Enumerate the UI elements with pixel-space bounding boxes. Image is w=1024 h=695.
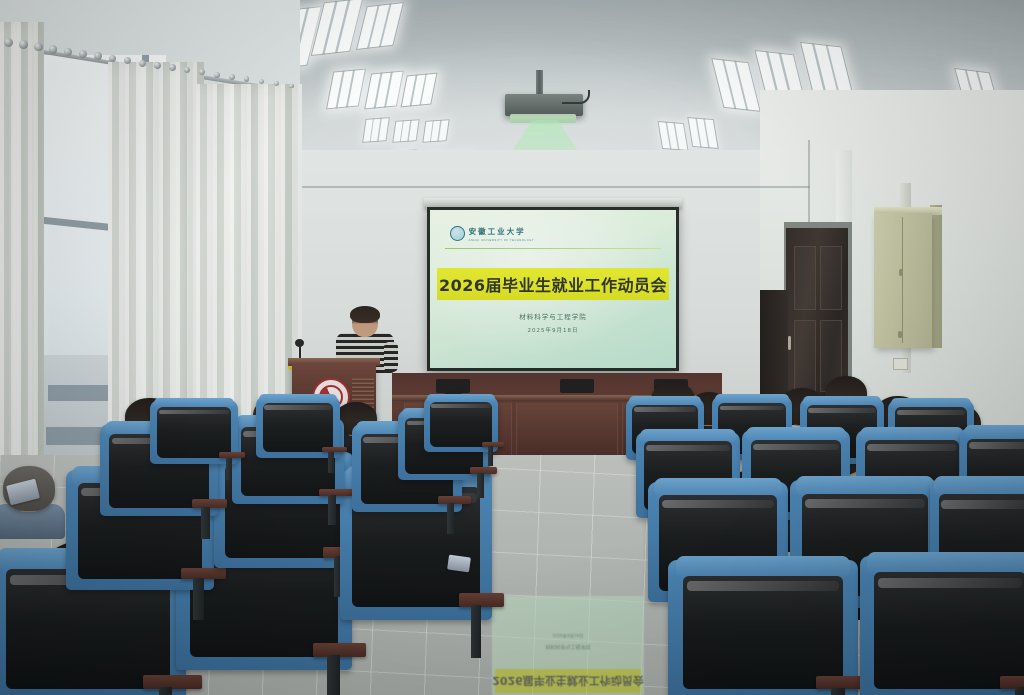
chair-cushion: [683, 576, 843, 690]
chair-highlight: [431, 404, 490, 408]
ceiling-wall-joint: [250, 186, 810, 188]
chair-highlight: [808, 408, 875, 413]
chair-leg: [471, 605, 482, 658]
reflection-date: 2025年9月18日: [492, 632, 644, 638]
cabinet-latch-icon[interactable]: [898, 331, 902, 338]
presenter-arm-right: [384, 342, 398, 372]
chair-highlight: [662, 500, 774, 508]
chair-cushion: [157, 407, 231, 458]
slide-divider: [445, 248, 662, 249]
auditorium-chair[interactable]: [256, 396, 340, 458]
curtain-ring: [169, 64, 176, 71]
chair-leg: [327, 655, 339, 695]
chair-cushion: [874, 572, 1024, 689]
curtain-ring: [154, 62, 161, 69]
curtain-fold-texture: [196, 84, 302, 434]
slide-title-banner: 2026届毕业生就业工作动员会: [437, 268, 668, 300]
slide-date: 2025年9月18日: [430, 326, 676, 334]
ceiling-light-panel: [422, 119, 449, 143]
slide-university-logo: 安徽工业大学 ANHUI UNIVERSITY OF TECHNOLOGY: [450, 226, 534, 242]
lecture-hall-photo: 安徽工业大学 ANHUI UNIVERSITY OF TECHNOLOGY 20…: [0, 0, 1024, 695]
chair-leg: [328, 452, 334, 474]
projector-mount-pole: [536, 70, 543, 96]
reflection-subtitle: 材料科学与工程学院: [492, 643, 644, 650]
projector-assembly: [500, 70, 600, 140]
presentation-slide: 安徽工业大学 ANHUI UNIVERSITY OF TECHNOLOGY 20…: [430, 210, 676, 368]
chair-cushion: [430, 402, 492, 447]
chair-highlight: [897, 410, 966, 415]
chair-cushion: [263, 403, 334, 453]
chair-highlight: [634, 407, 696, 411]
university-name-cn: 安徽工业大学: [469, 226, 534, 237]
projector-cable: [562, 90, 590, 104]
chair-highlight: [878, 578, 1022, 588]
curtain-ring: [139, 60, 146, 67]
slide-subtitle: 材料科学与工程学院: [430, 311, 676, 321]
reflection-banner: 2026届毕业生就业工作动员会: [495, 669, 641, 693]
chair-highlight: [941, 500, 1024, 509]
auditorium-chair[interactable]: [150, 400, 238, 464]
chair-armrest: [470, 467, 498, 473]
cabinet-door-seam: [902, 217, 903, 343]
wall-power-outlet: [893, 358, 908, 370]
chair-armrest: [322, 447, 347, 453]
stage-chair-2: [560, 379, 594, 393]
chair-armrest: [482, 442, 504, 447]
chair-armrest: [319, 489, 353, 497]
chair-highlight: [969, 442, 1024, 449]
curtain-ring: [94, 52, 102, 60]
door-panel-upper-right: [820, 246, 842, 310]
chair-highlight: [720, 406, 784, 410]
chair-highlight: [867, 444, 957, 451]
chair-highlight: [687, 581, 839, 591]
curtain-ring: [79, 50, 87, 58]
chair-armrest: [459, 593, 505, 607]
slide-floor-reflection: 2026届毕业生就业工作动员会 材料科学与工程学院 2025年9月18日: [492, 596, 644, 695]
curtain-panel-right: [196, 84, 302, 434]
door-panel-lower: [794, 320, 816, 392]
curtain-ring: [229, 74, 235, 80]
chair-highlight: [264, 405, 331, 409]
curtain-panel-left: [0, 22, 44, 492]
curtain-ring: [64, 48, 72, 56]
curtain-ring: [49, 45, 57, 53]
chair-leg: [477, 473, 483, 498]
door-handle-icon[interactable]: [788, 336, 791, 350]
university-name-en: ANHUI UNIVERSITY OF TECHNOLOGY: [469, 239, 534, 242]
desk-front-panel-mid: [516, 403, 618, 457]
university-seal-icon: [450, 226, 465, 241]
stage-chair-1: [436, 379, 470, 393]
electrical-cabinet[interactable]: [874, 213, 932, 348]
ceiling-light-panel: [362, 117, 390, 143]
ceiling-light-panel: [657, 121, 688, 151]
auditorium-chair[interactable]: [668, 560, 858, 695]
chair-leg: [488, 446, 493, 466]
chair-leg: [193, 578, 203, 620]
chair-leg: [831, 688, 844, 695]
curtain-ring: [289, 84, 294, 89]
curtain-ring: [214, 72, 220, 78]
chair-leg: [159, 687, 173, 695]
microphone-head-icon: [295, 339, 304, 347]
chair-highlight: [805, 499, 925, 508]
chair-armrest: [192, 499, 227, 507]
reflection-title: 2026届毕业生就业工作动员会: [492, 673, 644, 689]
chair-leg: [328, 495, 336, 525]
chair-armrest: [438, 496, 471, 504]
chair-leg: [201, 507, 209, 539]
auditorium-chair[interactable]: [424, 396, 498, 452]
curtain-ring: [19, 40, 28, 49]
projection-screen: 安徽工业大学 ANHUI UNIVERSITY OF TECHNOLOGY 20…: [427, 207, 679, 371]
curtain-fold-texture: [0, 22, 44, 492]
chair-highlight: [159, 410, 229, 414]
handheld-phone-2: [447, 555, 471, 573]
slide-title: 2026届毕业生就业工作动员会: [439, 272, 667, 296]
presenter-hair: [350, 306, 380, 323]
curtain-ring: [4, 38, 13, 47]
curtain-ring: [34, 43, 43, 52]
chair-leg: [226, 458, 232, 480]
chair-highlight: [753, 444, 839, 450]
auditorium-chair[interactable]: [860, 556, 1024, 695]
chair-leg: [447, 503, 455, 534]
ceiling-light-panel: [687, 117, 718, 149]
cabinet-lock-icon[interactable]: [899, 269, 903, 276]
chair-leg: [1015, 687, 1024, 695]
chair-highlight: [646, 445, 729, 451]
chair-armrest: [143, 675, 202, 689]
chair-armrest: [181, 568, 225, 579]
door-panel-upper: [794, 246, 816, 310]
ceiling-light-panel: [392, 119, 419, 143]
